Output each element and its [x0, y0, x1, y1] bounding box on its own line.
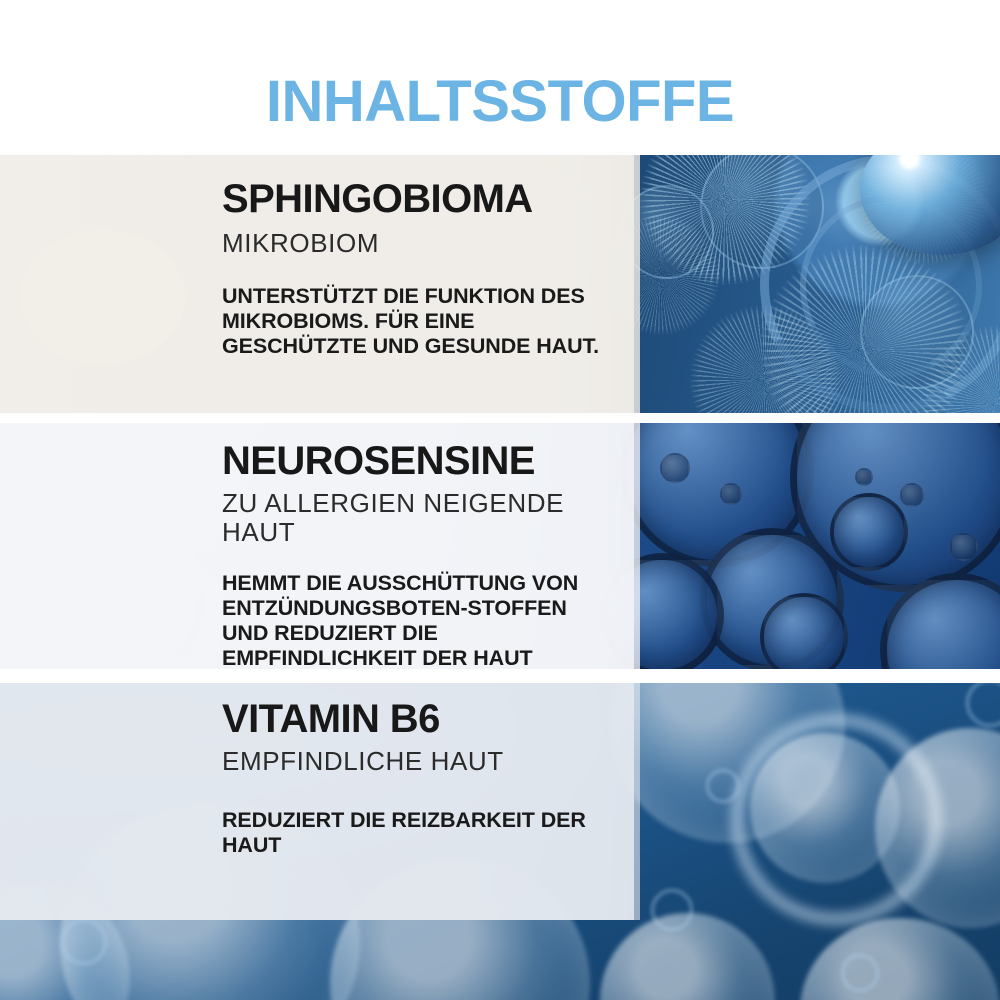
ingredients-infographic: INHALTSSTOFFE SPHINGOBIOMA M	[0, 0, 1000, 1000]
ingredient-card-vitamin-b6[interactable]: VITAMIN B6 EMPFINDLICHE HAUT REDUZIERT D…	[0, 683, 634, 920]
title-area: INHALTSSTOFFE	[0, 0, 1000, 155]
ingredient-band-neurosensine: NEUROSENSINE ZU ALLERGIEN NEIGENDE HAUT …	[0, 423, 1000, 669]
ingredient-name: SPHINGOBIOMA	[222, 179, 618, 221]
ingredient-description: HEMMT DIE AUSSCHÜTTUNG VON ENTZÜNDUNGSBO…	[222, 571, 618, 669]
ingredient-name: NEUROSENSINE	[222, 441, 618, 483]
page-title: INHALTSSTOFFE	[0, 73, 1000, 131]
ingredient-description: REDUZIERT DIE REIZBARKEIT DER HAUT	[222, 808, 618, 858]
ingredient-band-sphingobioma: SPHINGOBIOMA MIKROBIOM UNTERSTÜTZT DIE F…	[0, 155, 1000, 413]
ingredient-card-sphingobioma[interactable]: SPHINGOBIOMA MIKROBIOM UNTERSTÜTZT DIE F…	[0, 155, 634, 413]
ingredient-card-neurosensine[interactable]: NEUROSENSINE ZU ALLERGIEN NEIGENDE HAUT …	[0, 423, 634, 669]
ingredient-band-vitamin-b6: VITAMIN B6 EMPFINDLICHE HAUT REDUZIERT D…	[0, 683, 1000, 1000]
ingredient-subtitle: EMPFINDLICHE HAUT	[222, 747, 618, 776]
ingredient-description: UNTERSTÜTZT DIE FUNKTION DES MIKROBIOMS.…	[222, 284, 618, 359]
ingredient-subtitle: ZU ALLERGIEN NEIGENDE HAUT	[222, 489, 618, 547]
ingredient-name: VITAMIN B6	[222, 699, 618, 741]
ingredient-subtitle: MIKROBIOM	[222, 229, 618, 258]
